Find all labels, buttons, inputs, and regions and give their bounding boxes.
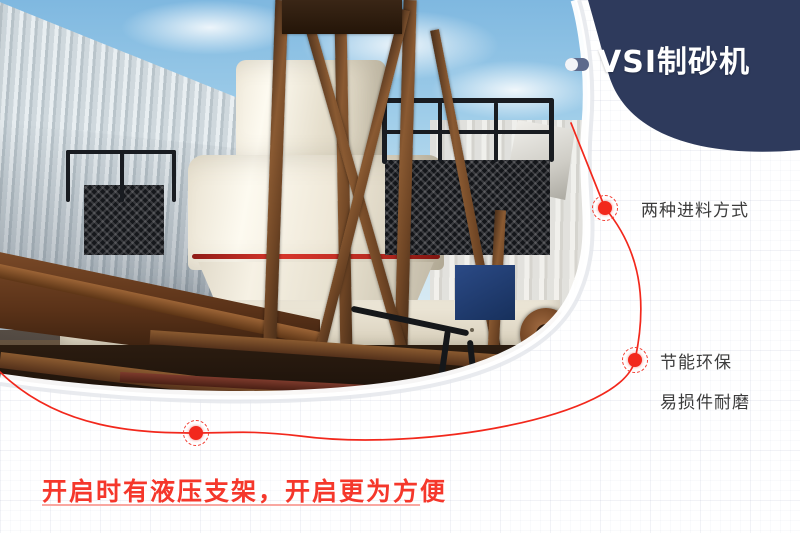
bottom-caption: 开启时有液压支架，开启更为方便 bbox=[42, 472, 447, 508]
red-dot-marker-icon-1 bbox=[592, 195, 618, 221]
poster-canvas: VSI制砂机 两种进料方式 节能环保 易损件耐磨 开启时有液压支架，开启更为方便 bbox=[0, 0, 800, 533]
callout-label-2: 节能环保 bbox=[660, 348, 732, 373]
red-dot-marker-icon-3 bbox=[183, 420, 209, 446]
page-title: VSI制砂机 bbox=[598, 37, 750, 81]
callout-label-1: 两种进料方式 bbox=[641, 196, 749, 221]
pill-dot-icon bbox=[565, 58, 589, 71]
bottom-caption-underline bbox=[42, 504, 420, 506]
machine-photo bbox=[0, 0, 620, 440]
red-dot-marker-icon-2 bbox=[622, 347, 648, 373]
callout-label-3: 易损件耐磨 bbox=[660, 388, 750, 413]
